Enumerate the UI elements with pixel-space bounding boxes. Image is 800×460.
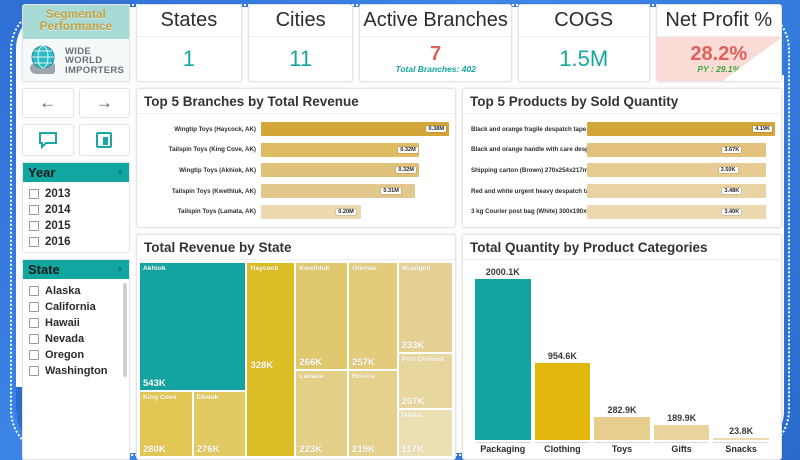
treemap-cell-king-cove[interactable]: King Cove 280K (140, 392, 192, 456)
slicer-label-2016: 2016 (45, 236, 71, 248)
treemap-column-5: Wrangell 233K Port Chilkoot 207K Marka 1… (399, 263, 452, 456)
slicer-item-nevada[interactable]: Nevada (27, 331, 125, 347)
chevron-down-icon[interactable]: ▼ (116, 168, 124, 177)
bar-category-label: Clothing (535, 442, 591, 454)
treemap-name: Haycock (250, 265, 291, 272)
brand-logo-card: Segmental Performance WIDE W (22, 4, 130, 82)
bar-label: Tailspin Toys (Kwethluk, AK) (143, 188, 261, 195)
chart-quantity-by-category: Total Quantity by Product Categories 200… (462, 234, 782, 460)
treemap-value: 257K (352, 357, 375, 368)
bar-label: Wingtip Toys (Haycock, AK) (143, 126, 261, 133)
bar-fill (535, 363, 591, 440)
bar-fill (594, 417, 650, 440)
treemap-value: 266K (299, 357, 322, 368)
bar-fill (587, 122, 775, 136)
bar-value: 0.32M (398, 147, 418, 153)
slicer-item-alaska[interactable]: Alaska (27, 283, 125, 299)
bar-value: 0.32M (396, 167, 416, 173)
bar-row[interactable]: Wingtip Toys (Haycock, AK) 0.38M (143, 122, 449, 137)
treemap-cell-port-chilkoot[interactable]: Port Chilkoot 207K (399, 354, 452, 407)
kpi-value-active-branches: 7 (430, 44, 441, 65)
slicer-item-washington[interactable]: Washington (27, 363, 125, 379)
slicer-label-hawaii: Hawaii (45, 317, 80, 329)
bar-value: 4.19K (753, 126, 772, 132)
treemap-column-1: Akhiok 543K King Cove 280K Ekwok (140, 263, 245, 456)
bar-fill (654, 425, 710, 440)
slicer-label-oregon: Oregon (45, 349, 84, 361)
kpi-sub-active-branches: Total Branches: 402 (395, 65, 475, 74)
checkbox-2014[interactable] (29, 205, 39, 215)
kpi-title-cities: Cities (249, 5, 353, 37)
bar-list-branches: Wingtip Toys (Haycock, AK) 0.38M Tailspi… (143, 119, 449, 222)
bar-track: 0.31M (261, 184, 449, 198)
kpi-sub-net-profit: PY : 29.1% (697, 65, 740, 74)
bar-track: 0.32M (261, 163, 449, 177)
treemap-cell-hoslov[interactable]: Hoslov 219K (349, 371, 397, 456)
kpi-value-cogs: 1.5M (559, 47, 608, 70)
left-rail: Segmental Performance WIDE W (22, 4, 130, 460)
bar-fill (587, 163, 766, 177)
treemap-cell-ekwok[interactable]: Ekwok 276K (194, 392, 246, 456)
brand-row: WIDE WORLD IMPORTERS (23, 39, 129, 82)
kpi-title-active-branches: Active Branches (360, 5, 510, 37)
treemap-name: Olemas (352, 265, 394, 272)
slicer-year-header[interactable]: Year ▼ (23, 163, 129, 182)
bar-label: Black and orange fragile despatch tape 4… (469, 126, 587, 133)
bar-fill (261, 163, 419, 177)
chart-top5-products: Top 5 Products by Sold Quantity Black an… (462, 88, 782, 228)
slicer-label-2015: 2015 (45, 220, 71, 232)
slicer-item-2016[interactable]: 2016 (27, 234, 125, 250)
chart-revenue-by-state: Total Revenue by State Akhiok 543K King … (136, 234, 456, 460)
treemap-value: 223K (299, 444, 322, 455)
bar-label: 3 kg Courier post bag (White) 300x190x9.… (469, 208, 587, 215)
slicer-label-2014: 2014 (45, 204, 71, 216)
nav-button-row: ← → (22, 88, 130, 118)
brand-name-line1: WIDE WORLD (65, 47, 126, 66)
bar-value: 3.40K (722, 209, 741, 215)
treemap-name: Wrangell (402, 265, 449, 272)
chart-top5-branches: Top 5 Branches by Total Revenue Wingtip … (136, 88, 456, 228)
bar-fill (261, 122, 449, 136)
treemap-name: Hoslov (352, 373, 394, 380)
bar-category-label: Gifts (654, 442, 710, 454)
kpi-card-cogs[interactable]: COGS 1.5M (518, 4, 650, 82)
treemap-value: 280K (143, 444, 166, 455)
bar-track: 4.19K (587, 122, 775, 136)
bar-label: Tailspin Toys (King Cove, AK) (143, 146, 261, 153)
treemap-value: 117K (402, 444, 424, 455)
bar-track: 3.48K (587, 184, 775, 198)
chart-body-top5-branches: Wingtip Toys (Haycock, AK) 0.38M Tailspi… (137, 114, 455, 227)
checkbox-alaska[interactable] (29, 286, 39, 296)
treemap-name: Akhiok (143, 265, 242, 272)
bar-value: 189.9K (667, 413, 696, 423)
treemap-name: Port Chilkoot (402, 356, 449, 363)
viz-row-top: Top 5 Branches by Total Revenue Wingtip … (136, 88, 782, 228)
slicer-item-california[interactable]: California (27, 299, 125, 315)
bar-column[interactable]: 2000.1K Packaging (475, 267, 531, 454)
bar-column[interactable]: 189.9K Gifts (654, 267, 710, 454)
bar-list-products: Black and orange fragile despatch tape 4… (469, 119, 775, 222)
main-area: States 1 Cities 11 Active Branches 7 Tot… (136, 4, 782, 460)
bar-track: 0.32M (261, 143, 449, 157)
treemap-cell-lamata[interactable]: Lamata 223K (296, 371, 347, 456)
bar-row[interactable]: Tailspin Toys (King Cove, AK) 0.32M (143, 142, 449, 157)
checkbox-washington[interactable] (29, 366, 39, 376)
chart-title-revenue-by-state: Total Revenue by State (137, 235, 455, 260)
chart-body-revenue-by-state: Akhiok 543K King Cove 280K Ekwok (137, 260, 455, 459)
report-title: Segmental Performance (23, 5, 129, 39)
slicer-year-body: 2013 2014 2015 2016 (23, 182, 129, 252)
slicer-label-nevada: Nevada (45, 333, 84, 345)
bar-label: Black and orange handle with care despat… (469, 146, 587, 153)
slicer-label-alaska: Alaska (45, 285, 80, 297)
chart-body-quantity-by-category: 2000.1K Packaging 954.6K Clothing 282.9K (463, 260, 781, 459)
treemap-cell-kwethluk[interactable]: Kwethluk 266K (296, 263, 347, 369)
kpi-card-net-profit[interactable]: Net Profit % 28.2% PY : 29.1% (656, 4, 782, 82)
bookmark-page-icon[interactable] (79, 124, 131, 156)
slicer-item-2014[interactable]: 2014 (27, 202, 125, 218)
bar-fill (475, 279, 531, 440)
viz-row-bottom: Total Revenue by State Akhiok 543K King … (136, 234, 782, 460)
chart-title-top5-branches: Top 5 Branches by Total Revenue (137, 89, 455, 114)
treemap-cell-akhiok[interactable]: Akhiok 543K (140, 263, 245, 390)
treemap-name: Ekwok (197, 394, 243, 401)
kpi-title-states: States (137, 5, 241, 37)
bar-value: 0.31M (381, 188, 401, 194)
slicer-state: State ▼ Alaska California Hawaii (22, 259, 130, 460)
treemap-cell-wrangell[interactable]: Wrangell 233K (399, 263, 452, 352)
bar-category-label: Snacks (713, 442, 769, 454)
slicer-item-hawaii[interactable]: Hawaii (27, 315, 125, 331)
bar-category-label: Packaging (475, 442, 531, 454)
kpi-body-cogs: 1.5M (519, 37, 649, 81)
kpi-body-net-profit: 28.2% PY : 29.1% (657, 37, 781, 81)
bar-row[interactable]: Tailspin Toys (Lamata, AK) 0.20M (143, 204, 449, 219)
kpi-title-cogs: COGS (519, 5, 649, 37)
bar-row[interactable]: Tailspin Toys (Kwethluk, AK) 0.31M (143, 184, 449, 199)
bar-row[interactable]: Black and orange handle with care despat… (469, 142, 775, 157)
bar-category-label: Toys (594, 442, 650, 454)
treemap-value: 543K (143, 378, 166, 389)
bar-row[interactable]: 3 kg Courier post bag (White) 300x190x9.… (469, 204, 775, 219)
bar-track: 3.40K (587, 205, 775, 219)
treemap-cell-haycock[interactable]: Haycock 328K (247, 263, 294, 456)
kpi-row: States 1 Cities 11 Active Branches 7 Tot… (136, 4, 782, 82)
bar-column[interactable]: 954.6K Clothing (535, 267, 591, 454)
treemap-name: King Cove (143, 394, 189, 401)
slicer-item-oregon[interactable]: Oregon (27, 347, 125, 363)
treemap: Akhiok 543K King Cove 280K Ekwok (140, 263, 452, 456)
bar-value: 23.8K (729, 426, 753, 436)
slicer-year-title: Year (28, 165, 55, 180)
brand-name-line2: IMPORTERS (65, 66, 126, 76)
treemap-name: Kwethluk (299, 265, 344, 272)
bar-row[interactable]: Shipping carton (Brown) 270x254x217mm 3.… (469, 163, 775, 178)
kpi-body-states: 1 (137, 37, 241, 81)
checkbox-california[interactable] (29, 302, 39, 312)
treemap-value: 328K (250, 360, 273, 371)
slicer-year: Year ▼ 2013 2014 2015 2016 (22, 162, 130, 253)
treemap-column-2: Haycock 328K (247, 263, 294, 456)
bar-label: Red and white urgent heavy despatch tap.… (469, 188, 587, 195)
treemap-cell-olemas[interactable]: Olemas 257K (349, 263, 397, 369)
kpi-body-active-branches: 7 Total Branches: 402 (360, 37, 510, 81)
bar-fill (261, 143, 419, 157)
report-title-line2: Performance (40, 22, 113, 34)
bar-value: 3.67K (722, 147, 741, 153)
treemap-value: 233K (402, 340, 425, 351)
slicer-label-2013: 2013 (45, 188, 71, 200)
treemap-subrow: King Cove 280K Ekwok 276K (140, 392, 245, 456)
bar-track: 3.50K (587, 163, 775, 177)
tool-button-row (22, 124, 130, 156)
globe-hand-icon (26, 43, 62, 79)
chart-title-top5-products: Top 5 Products by Sold Quantity (463, 89, 781, 114)
checkbox-2013[interactable] (29, 189, 39, 199)
bar-value: 282.9K (607, 405, 636, 415)
bar-value: 2000.1K (486, 267, 520, 277)
slicer-item-2015[interactable]: 2015 (27, 218, 125, 234)
bar-column[interactable]: 282.9K Toys (594, 267, 650, 454)
treemap-name: Lamata (299, 373, 344, 380)
bar-value: 954.6K (548, 351, 577, 361)
slicer-state-header[interactable]: State ▼ (23, 260, 129, 279)
checkbox-hawaii[interactable] (29, 318, 39, 328)
kpi-card-cities[interactable]: Cities 11 (248, 4, 354, 82)
treemap-column-4: Olemas 257K Hoslov 219K (349, 263, 397, 456)
bar-fill (713, 438, 769, 440)
kpi-value-cities: 11 (289, 47, 312, 70)
back-arrow-icon[interactable]: ← (22, 88, 74, 118)
kpi-value-net-profit: 28.2% (690, 44, 747, 65)
bar-column[interactable]: 23.8K Snacks (713, 267, 769, 454)
treemap-cell-marka[interactable]: Marka 117K (399, 410, 452, 456)
bar-value: 3.50K (719, 167, 738, 173)
bar-track: 0.38M (261, 122, 449, 136)
dashboard-content: Segmental Performance WIDE W (22, 4, 782, 460)
treemap-column-3: Kwethluk 266K Lamata 223K (296, 263, 347, 456)
kpi-card-states[interactable]: States 1 (136, 4, 242, 82)
slicer-state-body: Alaska California Hawaii Nevada Oregon (23, 279, 129, 381)
kpi-card-active-branches[interactable]: Active Branches 7 Total Branches: 402 (359, 4, 511, 82)
slicer-state-scrollbar[interactable] (123, 283, 127, 377)
comment-bubble-icon[interactable] (22, 124, 74, 156)
treemap-value: 219K (352, 444, 375, 455)
bar-track: 3.67K (587, 143, 775, 157)
checkbox-2015[interactable] (29, 221, 39, 231)
bar-label: Tailspin Toys (Lamata, AK) (143, 208, 261, 215)
bar-value: 0.20M (336, 209, 356, 215)
chevron-down-icon[interactable]: ▼ (116, 265, 124, 274)
bar-chart-vertical: 2000.1K Packaging 954.6K Clothing 282.9K (469, 265, 775, 454)
checkbox-oregon[interactable] (29, 350, 39, 360)
slicer-label-washington: Washington (45, 365, 108, 377)
bar-row[interactable]: Red and white urgent heavy despatch tap.… (469, 184, 775, 199)
checkbox-nevada[interactable] (29, 334, 39, 344)
kpi-value-states: 1 (183, 47, 195, 70)
treemap-value: 276K (197, 444, 220, 455)
chart-title-quantity-by-category: Total Quantity by Product Categories (463, 235, 781, 260)
treemap-value: 207K (402, 396, 425, 407)
kpi-body-cities: 11 (249, 37, 353, 81)
brand-name: WIDE WORLD IMPORTERS (65, 47, 126, 76)
slicer-item-2013[interactable]: 2013 (27, 186, 125, 202)
bar-row[interactable]: Wingtip Toys (Akhiok, AK) 0.32M (143, 163, 449, 178)
chart-body-top5-products: Black and orange fragile despatch tape 4… (463, 114, 781, 227)
bar-label: Wingtip Toys (Akhiok, AK) (143, 167, 261, 174)
slicer-label-california: California (45, 301, 96, 313)
bar-label: Shipping carton (Brown) 270x254x217mm (469, 167, 587, 174)
checkbox-2016[interactable] (29, 237, 39, 247)
kpi-title-net-profit: Net Profit % (657, 5, 781, 37)
slicer-state-title: State (28, 262, 60, 277)
bar-track: 0.20M (261, 205, 449, 219)
bar-value: 3.48K (722, 188, 741, 194)
treemap-name: Marka (402, 412, 449, 419)
bar-row[interactable]: Black and orange fragile despatch tape 4… (469, 122, 775, 137)
bar-value: 0.38M (426, 126, 446, 132)
forward-arrow-icon[interactable]: → (79, 88, 131, 118)
